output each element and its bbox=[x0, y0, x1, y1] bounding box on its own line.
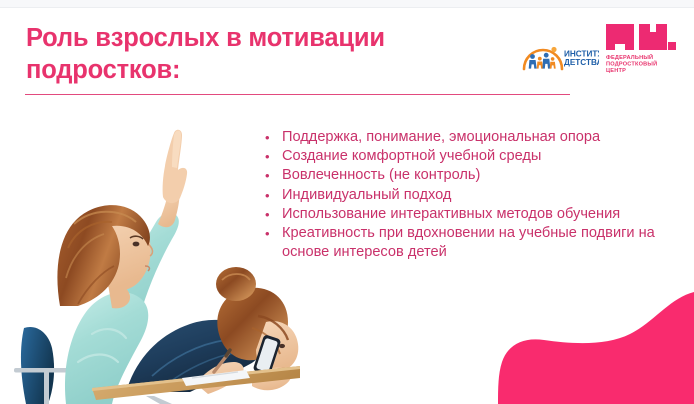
hair-bun bbox=[216, 267, 256, 301]
slide-top-divider bbox=[0, 7, 694, 8]
фпц-line3: ЦЕНТР bbox=[606, 68, 626, 74]
list-item: • Поддержка, понимание, эмоциональная оп… bbox=[261, 128, 665, 147]
институт-детства-logo: ИНСТИТУТ ДЕТСТВА bbox=[521, 29, 599, 71]
list-item: • Создание комфортной учебной среды bbox=[261, 147, 665, 166]
list-item: • Креативность при вдохновении на учебны… bbox=[261, 224, 665, 262]
bullet-list: • Поддержка, понимание, эмоциональная оп… bbox=[261, 128, 665, 262]
list-item: • Использование интерактивных методов об… bbox=[261, 205, 665, 224]
pink-wave-decoration bbox=[494, 292, 694, 404]
bullet-text: Поддержка, понимание, эмоциональная опор… bbox=[282, 128, 665, 147]
desk-leg bbox=[146, 396, 172, 404]
bullet-text: Вовлеченность (не контроль) bbox=[282, 166, 665, 185]
slide-canvas: Роль взрослых в мотивации подростков: bbox=[0, 0, 694, 404]
bullet-text: Индивидуальный подход bbox=[282, 186, 665, 205]
bullet-text: Креативность при вдохновении на учебные … bbox=[282, 224, 665, 262]
chair-back bbox=[21, 327, 54, 404]
bullet-text: Создание комфортной учебной среды bbox=[282, 147, 665, 166]
slide-title: Роль взрослых в мотивации подростков: bbox=[26, 22, 506, 86]
list-item: • Вовлеченность (не контроль) bbox=[261, 166, 665, 185]
федеральный-подростковый-центр-logo: ФЕДЕРАЛЬНЫЙ ПОДРОСТКОВЫЙ ЦЕНТР bbox=[606, 22, 684, 74]
фпц-line1: ФЕДЕРАЛЬНЫЙ bbox=[606, 53, 653, 61]
slide-top-band bbox=[0, 0, 694, 7]
институт-детства-line2: ДЕТСТВА bbox=[564, 58, 599, 67]
students-in-classroom-illustration bbox=[0, 96, 300, 404]
фпц-line2: ПОДРОСТКОВЫЙ bbox=[606, 60, 657, 68]
list-item: • Индивидуальный подход bbox=[261, 186, 665, 205]
bullet-text: Использование интерактивных методов обуч… bbox=[282, 205, 665, 224]
